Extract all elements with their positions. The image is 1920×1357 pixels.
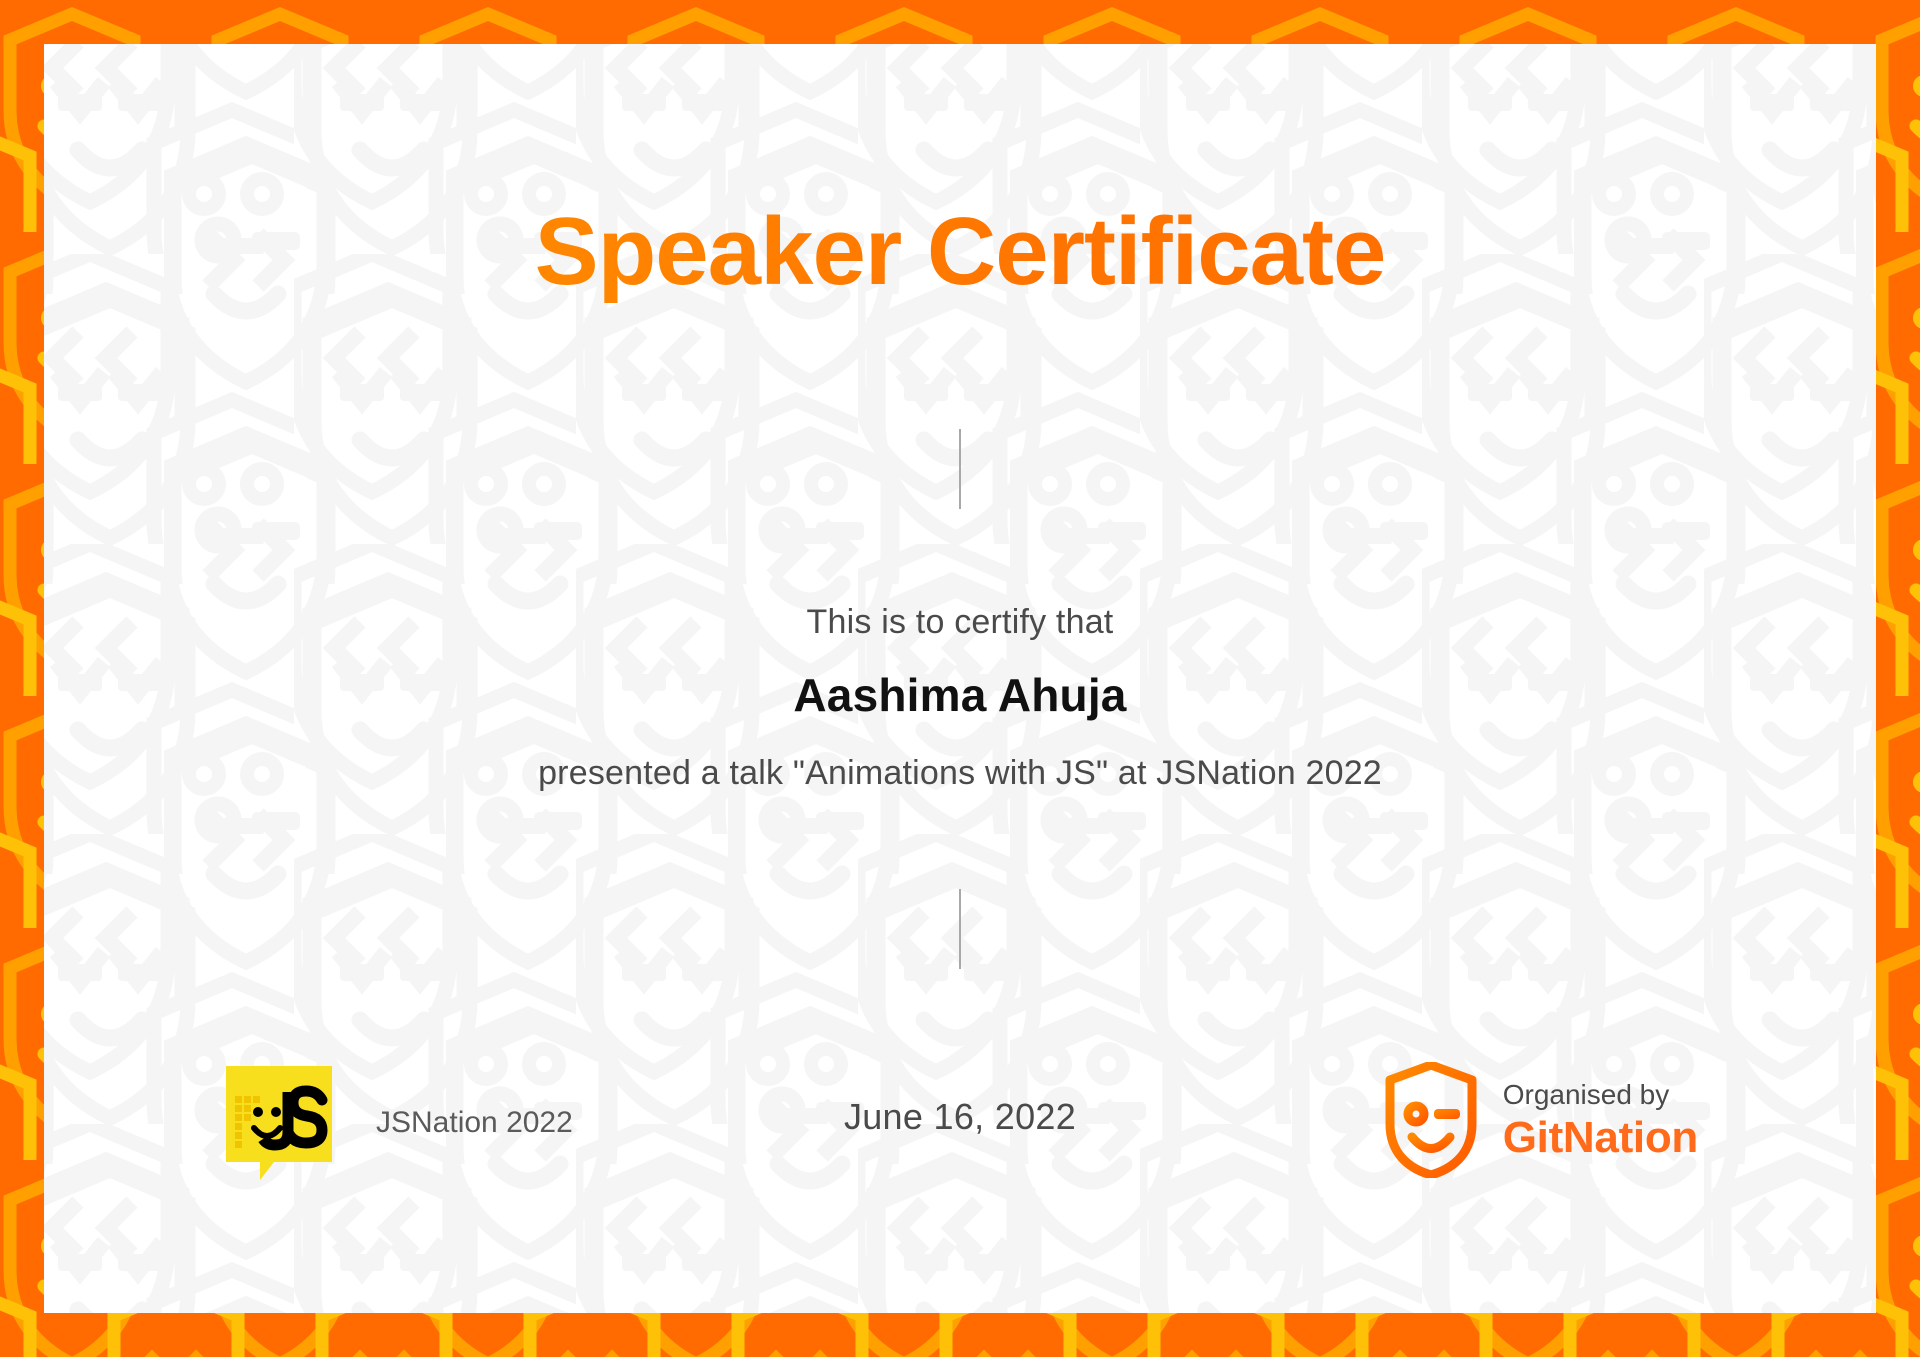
certificate-card: Speaker Certificate This is to certify t… <box>44 44 1876 1313</box>
speaker-certificate: Speaker Certificate This is to certify t… <box>0 0 1920 1357</box>
certificate-footer: JSNation 2022 June 16, 2022 <box>44 1044 1876 1244</box>
organiser-name: GitNation <box>1503 1114 1698 1162</box>
divider-top <box>959 429 961 509</box>
organiser-block: Organised by GitNation <box>1383 1062 1698 1178</box>
gitnation-shield-icon <box>1383 1062 1479 1178</box>
certify-line: This is to certify that <box>44 603 1876 642</box>
divider-bottom <box>959 889 961 969</box>
organised-by-label: Organised by <box>1503 1077 1698 1112</box>
talk-description: presented a talk "Animations with JS" at… <box>44 754 1876 793</box>
recipient-name: Aashima Ahuja <box>44 668 1876 722</box>
page-title: Speaker Certificate <box>44 202 1876 303</box>
